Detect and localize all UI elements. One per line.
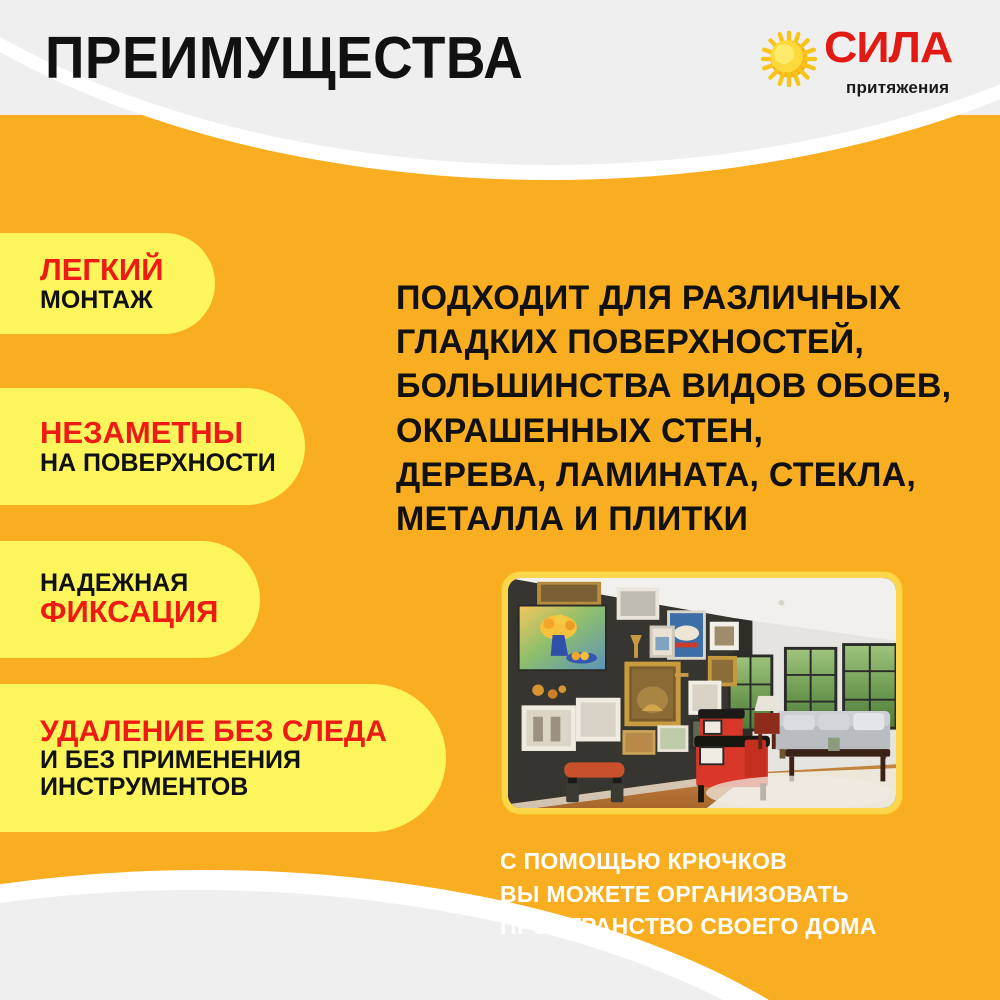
poster-canvas: ПРЕИМУЩЕСТВА [0,0,1000,1000]
feature-4-line-3: ИНСТРУМЕНТОВ [40,774,446,801]
interior-photo [508,578,896,808]
feature-pill-3[interactable]: НАДЕЖНАЯ ФИКСАЦИЯ [0,541,260,658]
feature-1-line-2: МОНТАЖ [40,287,215,314]
feature-1-line-1: ЛЕГКИЙ [40,254,215,287]
main-copy-line-1: ПОДХОДИТ ДЛЯ РАЗЛИЧНЫХ [396,276,956,320]
main-copy-line-5: ДЕРЕВА, ЛАМИНАТА, СТЕКЛА, [396,453,956,497]
main-copy-line-6: МЕТАЛЛА И ПЛИТКИ [396,497,956,541]
caption-line-3: ПРОСТРАНСТВО СВОЕГО ДОМА [500,910,877,943]
feature-2-line-1: НЕЗАМЕТНЫ [40,417,305,450]
feature-3-line-2: ФИКСАЦИЯ [40,596,260,629]
caption-line-2: ВЫ МОЖЕТЕ ОРГАНИЗОВАТЬ [500,878,877,911]
feature-4-line-1: УДАЛЕНИЕ БЕЗ СЛЕДА [40,716,446,748]
header: ПРЕИМУЩЕСТВА [0,0,1000,115]
main-copy-line-2: ГЛАДКИХ ПОВЕРХНОСТЕЙ, [396,320,956,364]
feature-pill-4[interactable]: УДАЛЕНИЕ БЕЗ СЛЕДА И БЕЗ ПРИМЕНЕНИЯ ИНСТ… [0,684,446,832]
feature-3-line-1: НАДЕЖНАЯ [40,570,260,597]
main-description: ПОДХОДИТ ДЛЯ РАЗЛИЧНЫХ ГЛАДКИХ ПОВЕРХНОС… [396,276,956,541]
page-title: ПРЕИМУЩЕСТВА [45,24,523,92]
main-copy-line-3: БОЛЬШИНСТВА ВИДОВ ОБОЕВ, [396,364,956,408]
main-copy-line-4: ОКРАШЕННЫХ СТЕН, [396,409,956,453]
photo-frame [502,572,902,814]
feature-2-line-2: НА ПОВЕРХНОСТИ [40,450,305,477]
caption-line-1: С ПОМОЩЬЮ КРЮЧКОВ [500,845,877,878]
photo-caption: С ПОМОЩЬЮ КРЮЧКОВ ВЫ МОЖЕТЕ ОРГАНИЗОВАТЬ… [500,845,877,943]
feature-pill-2[interactable]: НЕЗАМЕТНЫ НА ПОВЕРХНОСТИ [0,388,305,505]
feature-pill-1[interactable]: ЛЕГКИЙ МОНТАЖ [0,233,215,334]
feature-4-line-2: И БЕЗ ПРИМЕНЕНИЯ [40,747,446,774]
